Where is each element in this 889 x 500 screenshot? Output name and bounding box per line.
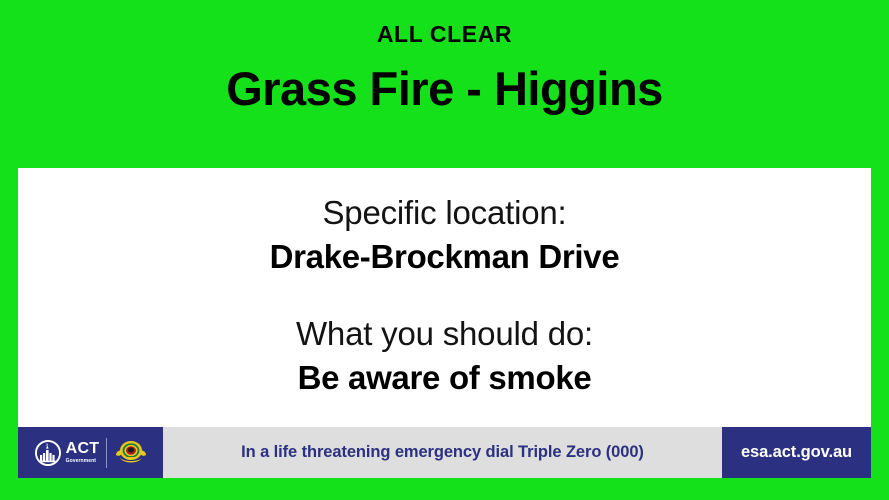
footer-emergency-message: In a life threatening emergency dial Tri… [163,427,722,478]
alert-detail-body: Specific location: Drake-Brockman Drive … [18,168,871,427]
act-wordmark: ACT Government [66,441,100,465]
alert-status-badge: ALL CLEAR [0,0,889,47]
footer-emergency-message-text: In a life threatening emergency dial Tri… [241,443,644,461]
footer-website-link[interactable]: esa.act.gov.au [722,427,871,478]
alert-detail-panel: Specific location: Drake-Brockman Drive … [18,168,871,478]
footer-logo-group: ACT Government [18,427,163,478]
detail-block-location: Specific location: Drake-Brockman Drive [18,193,871,278]
footer-website-text: esa.act.gov.au [741,443,852,461]
alert-header: ALL CLEAR Grass Fire - Higgins [0,0,889,168]
act-crest-icon [35,440,61,466]
act-wordmark-text: ACT [66,441,100,457]
act-government-logo: ACT Government [33,440,100,466]
page-title: Grass Fire - Higgins [0,47,889,116]
emergency-alert-card: ALL CLEAR Grass Fire - Higgins Specific … [0,0,889,500]
logo-divider [106,438,107,468]
esa-emblem-icon [114,438,148,468]
detail-label-action: What you should do: [18,314,871,354]
detail-block-action: What you should do: Be aware of smoke [18,314,871,399]
detail-value-location: Drake-Brockman Drive [18,233,871,277]
detail-label-location: Specific location: [18,193,871,233]
detail-value-action: Be aware of smoke [18,354,871,398]
act-wordmark-subtitle: Government [66,458,100,465]
alert-footer-bar: ACT Government [18,427,871,478]
